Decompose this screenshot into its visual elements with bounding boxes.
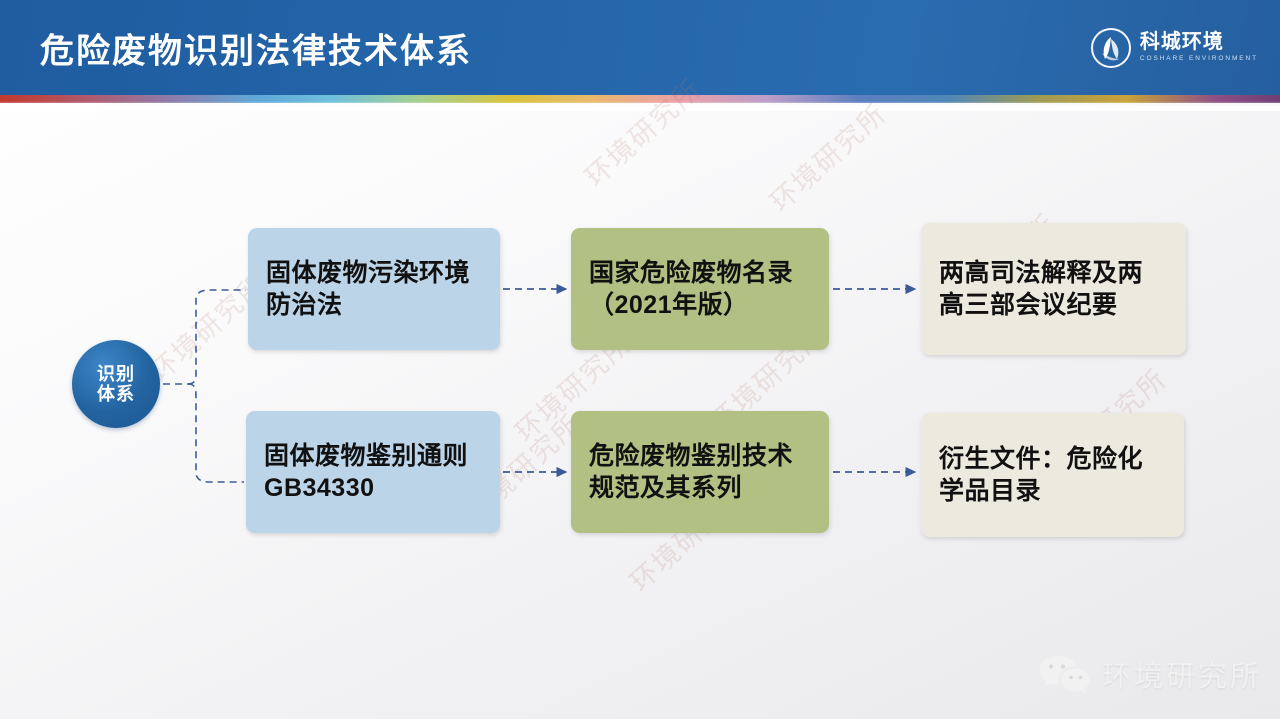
- footer-brand: 环境研究所: [1038, 653, 1262, 695]
- node-solid-waste-pollution-law[interactable]: 固体废物污染环境防治法: [248, 228, 500, 350]
- node-solid-waste-identification-standard[interactable]: 固体废物鉴别通则GB34330: [246, 411, 500, 533]
- node-root-label-line2: 体系: [97, 384, 135, 404]
- diagram-canvas: 识别 体系 固体废物污染环境防治法 国家危险废物名录（2021年版） 两高司法解…: [0, 0, 1280, 719]
- wechat-icon: [1038, 653, 1090, 695]
- node-root-label-line1: 识别: [97, 364, 135, 384]
- node-root-identification-system[interactable]: 识别 体系: [72, 340, 160, 428]
- connector-lines: [0, 0, 1280, 719]
- node-national-hazardous-waste-list[interactable]: 国家危险废物名录（2021年版）: [571, 228, 829, 350]
- slide: 危险废物识别法律技术体系 科城环境 COSHARE ENVIRONMENT 环境…: [0, 0, 1280, 719]
- node-hazardous-waste-technical-spec[interactable]: 危险废物鉴别技术规范及其系列: [571, 411, 829, 533]
- node-judicial-interpretation[interactable]: 两高司法解释及两高三部会议纪要: [921, 223, 1186, 355]
- node-derivative-documents[interactable]: 衍生文件：危险化学品目录: [921, 413, 1184, 537]
- footer-brand-text: 环境研究所: [1102, 653, 1262, 695]
